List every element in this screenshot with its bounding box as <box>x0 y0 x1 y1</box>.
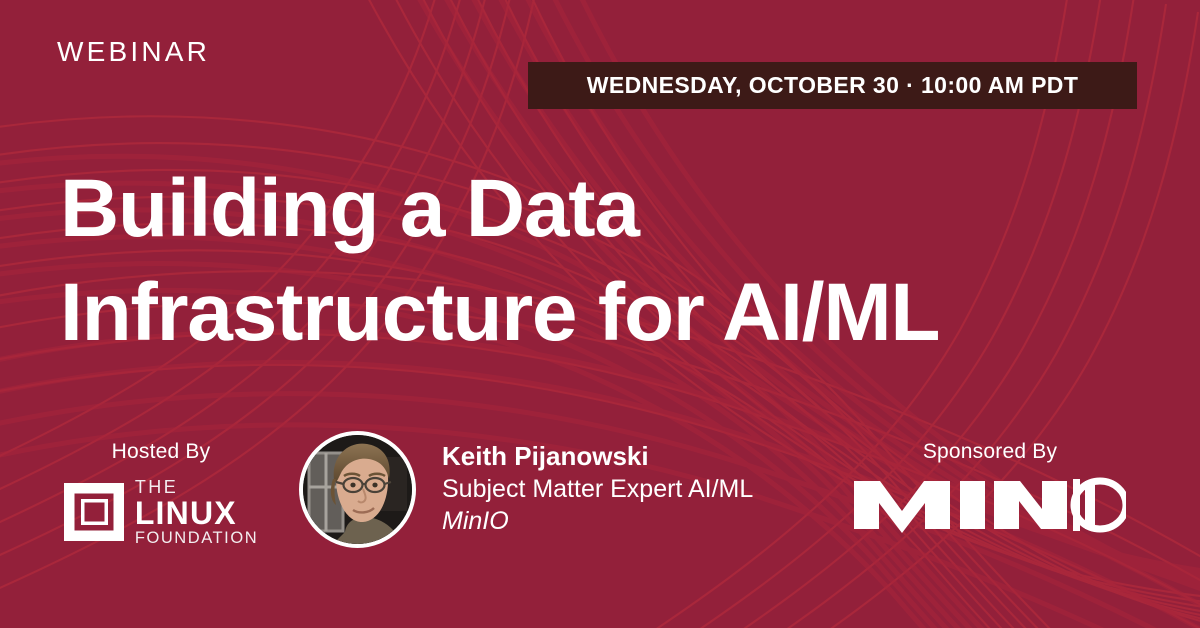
date-time-text: WEDNESDAY, OCTOBER 30 · 10:00 AM PDT <box>587 72 1079 99</box>
lf-linux-text: LINUX <box>135 497 258 529</box>
headline-line-1: Building a Data <box>60 157 1150 261</box>
page-title: Building a Data Infrastructure for AI/ML <box>60 157 1150 365</box>
linux-foundation-mark-icon <box>64 483 124 541</box>
lf-foundation-text: FOUNDATION <box>135 530 258 547</box>
linux-foundation-logo: THE LINUX FOUNDATION <box>41 478 281 547</box>
hosted-by-block: Hosted By THE LINUX FOUNDATION <box>41 440 281 547</box>
speaker-headshot-image <box>303 435 412 544</box>
minio-wordmark-icon <box>854 477 1126 533</box>
speaker-block: Keith Pijanowski Subject Matter Expert A… <box>299 431 753 548</box>
headline-line-2: Infrastructure for AI/ML <box>60 261 1150 365</box>
hosted-by-label: Hosted By <box>41 440 281 464</box>
speaker-details: Keith Pijanowski Subject Matter Expert A… <box>442 443 753 536</box>
speaker-name: Keith Pijanowski <box>442 443 753 469</box>
speaker-role: Subject Matter Expert AI/ML <box>442 477 753 502</box>
date-time-chip: WEDNESDAY, OCTOBER 30 · 10:00 AM PDT <box>528 62 1137 109</box>
linux-foundation-wordmark: THE LINUX FOUNDATION <box>135 478 258 547</box>
sponsored-by-label: Sponsored By <box>845 440 1135 464</box>
sponsored-by-block: Sponsored By <box>845 440 1135 533</box>
avatar <box>299 431 416 548</box>
webinar-promo-banner: WEBINAR WEDNESDAY, OCTOBER 30 · 10:00 AM… <box>0 0 1200 628</box>
eyebrow-label: WEBINAR <box>57 36 210 68</box>
speaker-company: MinIO <box>442 509 753 534</box>
minio-logo <box>845 477 1135 533</box>
lf-the-text: THE <box>135 478 258 496</box>
